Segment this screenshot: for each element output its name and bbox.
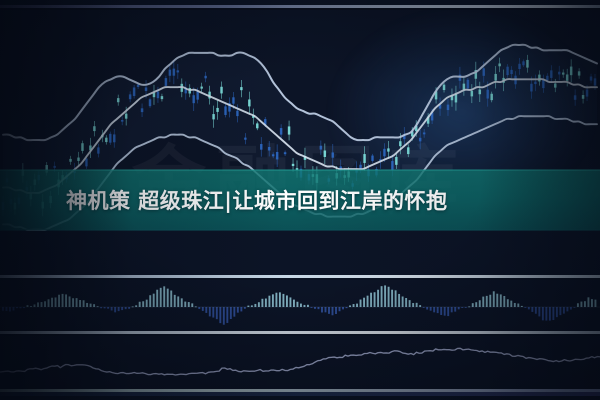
vignette-overlay (0, 0, 600, 400)
chart-screenshot: 金融图库 神机策 超级珠江|让城市回到江岸的怀抱 (0, 0, 600, 400)
